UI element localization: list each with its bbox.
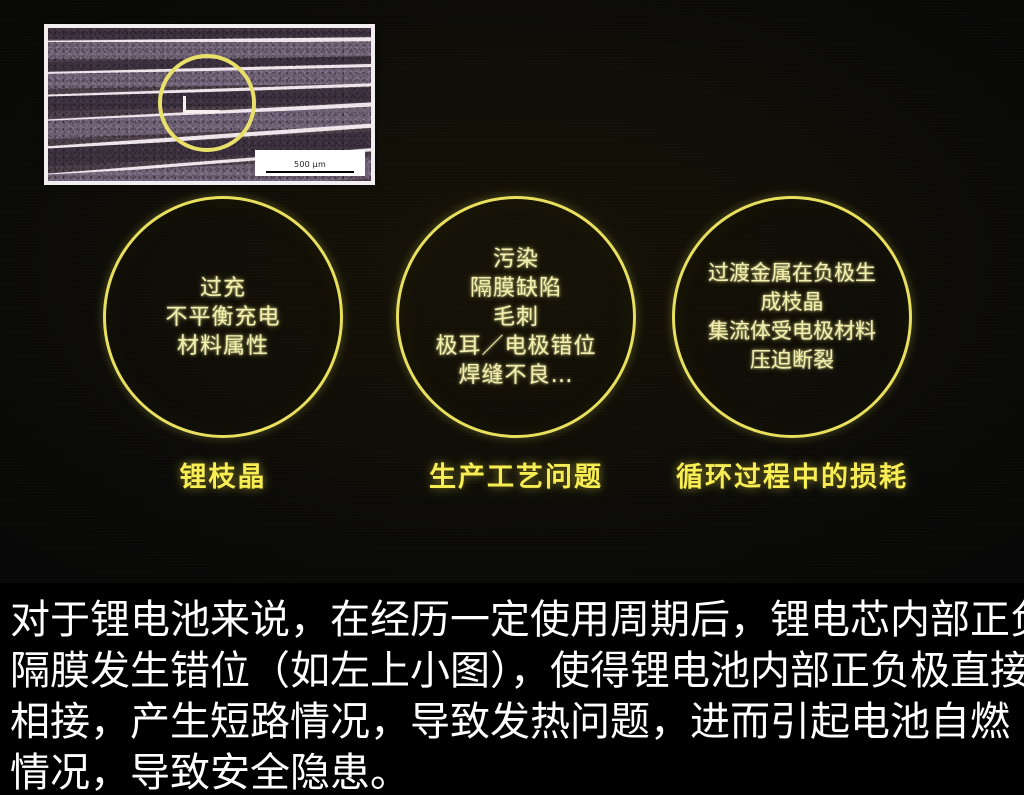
cause-circle-manufacturing[interactable]: 污染 隔膜缺陷 毛刺 极耳／电极错位 焊缝不良… — [396, 196, 636, 438]
cause-line: 毛刺 — [435, 303, 596, 332]
cause-line: 隔膜缺陷 — [435, 274, 596, 303]
scale-bar-label: 500 μm — [294, 160, 326, 169]
caption-line-2: 隔膜发生错位（如左上小图），使得锂电池内部正负极直接 — [10, 646, 1016, 697]
cause-line: 材料属性 — [165, 332, 280, 361]
caption-line-1: 对于锂电池来说，在经历一定使用周期后，锂电芯内部正负极 — [10, 595, 1016, 646]
caption-line-3: 相接，产生短路情况，导致发热问题，进而引起电池自燃 — [10, 697, 1016, 748]
cause-line: 过充 — [165, 274, 280, 303]
cause-line: 污染 — [435, 245, 596, 274]
scale-bar: 500 μm — [255, 150, 365, 176]
caption-line-4: 情况，导致安全隐患。 — [10, 748, 1016, 795]
cause-circle-cycling-degradation[interactable]: 过渡金属在负极生 成枝晶 集流体受电极材料 压迫断裂 — [672, 196, 912, 438]
cause-circle-2-text: 污染 隔膜缺陷 毛刺 极耳／电极错位 焊缝不良… — [429, 245, 602, 390]
scale-bar-line — [266, 171, 354, 173]
photo-panel: 500 μm 过充 不平衡充电 材料属性 锂枝晶 污染 隔膜缺陷 毛刺 极耳／电… — [0, 0, 1024, 583]
cause-label-manufacturing: 生产工艺问题 — [396, 455, 636, 494]
defect-highlight-circle-icon — [158, 54, 256, 152]
cause-line: 集流体受电极材料 — [708, 317, 876, 346]
micrograph-image: 500 μm — [48, 28, 371, 181]
cause-line: 极耳／电极错位 — [435, 332, 596, 361]
cause-line: 不平衡充电 — [165, 303, 280, 332]
cause-circle-1-text: 过充 不平衡充电 材料属性 — [159, 274, 286, 361]
cause-line: 过渡金属在负极生 — [708, 259, 876, 288]
cause-circle-3-text: 过渡金属在负极生 成枝晶 集流体受电极材料 压迫断裂 — [702, 259, 882, 375]
caption-block: 对于锂电池来说，在经历一定使用周期后，锂电芯内部正负极 隔膜发生错位（如左上小图… — [0, 583, 1024, 795]
micrograph-thumbnail: 500 μm — [44, 24, 375, 185]
cause-label-lithium-dendrite: 锂枝晶 — [103, 455, 343, 494]
cause-line: 焊缝不良… — [435, 361, 596, 390]
cause-line: 压迫断裂 — [708, 346, 876, 375]
cause-line: 成枝晶 — [708, 288, 876, 317]
slide-root: 500 μm 过充 不平衡充电 材料属性 锂枝晶 污染 隔膜缺陷 毛刺 极耳／电… — [0, 0, 1024, 795]
cause-circle-lithium-dendrite[interactable]: 过充 不平衡充电 材料属性 — [103, 196, 343, 438]
cause-label-cycling-degradation: 循环过程中的损耗 — [662, 455, 922, 494]
